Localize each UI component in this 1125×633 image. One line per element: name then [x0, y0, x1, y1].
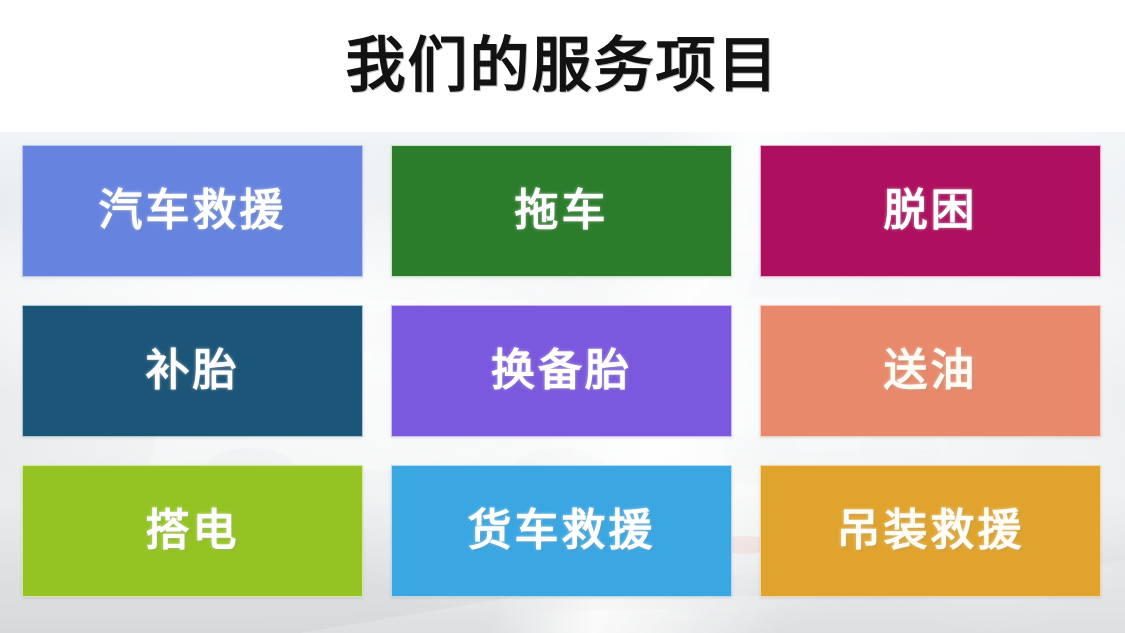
service-tile[interactable]: 汽车救援 — [22, 145, 363, 277]
service-tile-grid: 汽车救援拖车脱困补胎换备胎送油搭电货车救援吊装救援 — [22, 145, 1103, 598]
service-tile-label: 换备胎 — [491, 349, 632, 393]
service-tile[interactable]: 货车救援 — [391, 465, 732, 597]
service-tile-label: 送油 — [884, 349, 978, 393]
service-tile[interactable]: 送油 — [760, 305, 1101, 437]
service-tile[interactable]: 换备胎 — [391, 305, 732, 437]
service-tile[interactable]: 搭电 — [22, 465, 363, 597]
page-title: 我们的服务项目 — [346, 36, 780, 96]
header: 我们的服务项目 — [0, 0, 1125, 132]
service-tile[interactable]: 吊装救援 — [760, 465, 1101, 597]
service-tile-label: 搭电 — [146, 509, 240, 553]
service-tile[interactable]: 脱困 — [760, 145, 1101, 277]
service-tile[interactable]: 拖车 — [391, 145, 732, 277]
service-tile-label: 补胎 — [146, 349, 240, 393]
service-tile-label: 拖车 — [515, 189, 609, 233]
service-tile-label: 吊装救援 — [837, 509, 1025, 553]
service-tile-label: 汽车救援 — [99, 189, 287, 233]
service-tile-label: 货车救援 — [468, 509, 656, 553]
service-tile-label: 脱困 — [884, 189, 978, 233]
service-tile[interactable]: 补胎 — [22, 305, 363, 437]
service-board: 我们的服务项目 汽车救援拖车脱困补胎换备胎送油搭电货车救援吊装救援 — [0, 0, 1125, 633]
